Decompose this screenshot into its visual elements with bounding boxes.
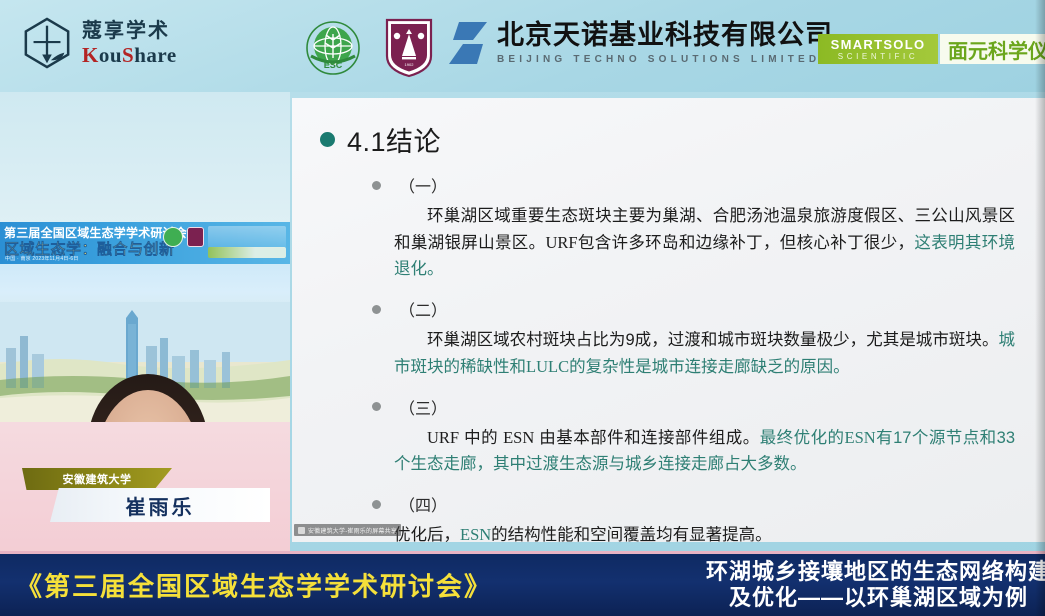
sponsor-header-bar: 蔻享学术 KouShare ESC 1902 <box>0 0 1045 92</box>
vb-sponsor-badges <box>163 226 286 248</box>
item-2-body: 环巢湖区域农村斑块占比为9成，过渡和城市斑块数量极少，尤其是城市斑块。城市斑块的… <box>320 327 1027 380</box>
nanjing-university-shield-icon: 1902 <box>383 16 435 78</box>
item-bullet-icon <box>372 500 381 509</box>
item-3-term-esn: ESN <box>503 428 534 447</box>
item-4-term-esn: ESN <box>460 525 491 542</box>
techno-lightning-icon <box>447 20 489 66</box>
item-1-head: （一） <box>320 173 1027 197</box>
talk-title-line-1: 环湖城乡接壤地区的生态网络构建 <box>706 559 1045 585</box>
item-2-number: （二） <box>399 297 447 321</box>
screen-share-text: 安徽建筑大学-崔雨乐的屏幕共享 <box>308 526 397 535</box>
item-1-term-urf: URF <box>545 233 577 252</box>
item-bullet-icon <box>372 402 381 411</box>
koushare-en-s: S <box>122 43 134 67</box>
vb-sponsor-strip <box>208 226 286 248</box>
mianyuan-logo: 面元科学仪器 <box>940 34 1045 64</box>
esc-globe-icon: ESC <box>305 20 361 76</box>
smartsolo-tagline: SCIENTIFIC <box>838 53 918 61</box>
techno-cn-text: 北京天诺基业科技有限公司 <box>497 22 833 49</box>
item-2-text-a: 环巢湖区域农村斑块占比为9成，过渡和城市斑块数量极少，尤其是城市斑块。 <box>427 331 999 349</box>
presentation-slide[interactable]: 4.1结论 （一） 环巢湖区域重要生态斑块主要为巢湖、合肥汤池温泉旅游度假区、三… <box>292 98 1045 542</box>
koushare-cn-text: 蔻享学术 <box>82 21 177 41</box>
smartsolo-name: SMARTSOLO <box>831 38 926 51</box>
item-3-text-mid: 中的 <box>459 429 503 447</box>
koushare-en-ou: ou <box>99 43 122 67</box>
item-4-text-b: 的结构性能和空间覆盖均有显著提高。 <box>491 526 772 542</box>
vb-nju-icon <box>187 227 204 247</box>
conclusion-item-1: （一） 环巢湖区域重要生态斑块主要为巢湖、合肥汤池温泉旅游度假区、三公山风景区和… <box>320 173 1027 283</box>
item-3-term-urf: URF <box>427 428 459 447</box>
bottom-title-bar: 《第三届全国区域生态学学术研讨会》 环湖城乡接壤地区的生态网络构建 及优化——以… <box>0 551 1045 616</box>
speaker-lower-third: 安徽建筑大学 崔雨乐 <box>22 468 270 534</box>
item-2-term-lulc: LULC <box>526 357 569 376</box>
conference-title-text: 《第三届全国区域生态学学术研讨会》 <box>16 567 492 604</box>
item-2-highlight-b: 的复杂性是城市连接走廊缺乏的原因。 <box>569 358 850 376</box>
vb-conference-meta: 中国 · 南京 2023年11月4日-6日 <box>5 255 79 262</box>
heading-bullet-icon <box>320 132 335 147</box>
speaker-affiliation-text: 安徽建筑大学 <box>63 471 132 487</box>
item-bullet-icon <box>372 181 381 190</box>
speaker-affiliation-banner: 安徽建筑大学 <box>22 468 172 490</box>
webcam-feed: 第三届全国区域生态学学术研讨会 区域生态学：融合与创新 中国 · 南京 2023… <box>0 222 290 422</box>
beijing-techno-logo: 北京天诺基业科技有限公司 BEIJING TECHNO SOLUTIONS LI… <box>447 20 833 66</box>
item-3-highlight-term-esn: ESN <box>844 428 875 447</box>
speaker-video-pane[interactable]: 第三届全国区域生态学学术研讨会 区域生态学：融合与创新 中国 · 南京 2023… <box>0 92 290 554</box>
speaker-name-banner: 崔雨乐 <box>50 488 270 522</box>
koushare-en-hare: hare <box>134 43 176 67</box>
talk-title-line-2: 及优化——以环巢湖区域为例 <box>706 585 1045 611</box>
conclusion-item-3: （三） URF 中的 ESN 由基本部件和连接部件组成。最终优化的ESN有17个… <box>320 395 1027 478</box>
item-2-head: （二） <box>320 297 1027 321</box>
item-4-head: （四） <box>320 492 1027 516</box>
slide-heading-text: 4.1结论 <box>347 120 441 159</box>
item-3-highlight-a: 最终优化的 <box>760 429 845 447</box>
item-bullet-icon <box>372 305 381 314</box>
techno-en-text: BEIJING TECHNO SOLUTIONS LIMITED <box>497 55 833 65</box>
item-1-body: 环巢湖区域重要生态斑块主要为巢湖、合肥汤池温泉旅游度假区、三公山风景区和巢湖银屏… <box>320 203 1027 283</box>
item-3-body: URF 中的 ESN 由基本部件和连接部件组成。最终优化的ESN有17个源节点和… <box>320 425 1027 478</box>
svg-text:1902: 1902 <box>405 62 415 67</box>
koushare-logo: 蔻享学术 KouShare <box>22 16 177 70</box>
svg-text:ESC: ESC <box>324 60 343 70</box>
talk-title-block: 环湖城乡接壤地区的生态网络构建 及优化——以环巢湖区域为例 <box>706 559 1045 611</box>
conclusion-item-4: （四） 优化后，ESN的结构性能和空间覆盖均有显著提高。 <box>320 492 1027 542</box>
screen-share-icon <box>298 527 305 534</box>
item-3-number: （三） <box>399 395 447 419</box>
video-player-screen: 蔻享学术 KouShare ESC 1902 <box>0 0 1045 616</box>
koushare-en-text: KouShare <box>82 45 177 66</box>
smartsolo-logo: SMARTSOLO SCIENTIFIC <box>818 34 938 64</box>
koushare-diamond-icon <box>22 16 72 70</box>
conclusion-item-2: （二） 环巢湖区域农村斑块占比为9成，过渡和城市斑块数量极少，尤其是城市斑块。城… <box>320 297 1027 380</box>
koushare-en-k: K <box>82 43 99 67</box>
item-3-text-a: 由基本部件和连接部件组成。 <box>534 429 759 447</box>
koushare-wordmark: 蔻享学术 KouShare <box>82 21 177 66</box>
conference-virtual-background-banner: 第三届全国区域生态学学术研讨会 区域生态学：融合与创新 中国 · 南京 2023… <box>0 222 290 264</box>
slide-heading-row: 4.1结论 <box>320 120 1027 159</box>
item-1-number: （一） <box>399 173 447 197</box>
techno-wordmark: 北京天诺基业科技有限公司 BEIJING TECHNO SOLUTIONS LI… <box>497 22 833 65</box>
item-3-head: （三） <box>320 395 1027 419</box>
item-4-body: 优化后，ESN的结构性能和空间覆盖均有显著提高。 <box>320 522 1027 542</box>
mianyuan-text: 面元科学仪器 <box>948 35 1045 64</box>
vb-esc-icon <box>163 227 183 247</box>
item-4-number: （四） <box>399 492 447 516</box>
screen-share-indicator: 安徽建筑大学-崔雨乐的屏幕共享 <box>294 524 401 536</box>
item-1-text-b: 包含许多环岛和边缘补丁，但核心补丁很少， <box>578 234 915 252</box>
slide-content: 4.1结论 （一） 环巢湖区域重要生态斑块主要为巢湖、合肥汤池温泉旅游度假区、三… <box>292 98 1045 542</box>
vb-sponsor-strip-2 <box>208 247 286 258</box>
item-4-text-a: 优化后， <box>394 526 460 542</box>
speaker-name-text: 崔雨乐 <box>126 491 195 520</box>
